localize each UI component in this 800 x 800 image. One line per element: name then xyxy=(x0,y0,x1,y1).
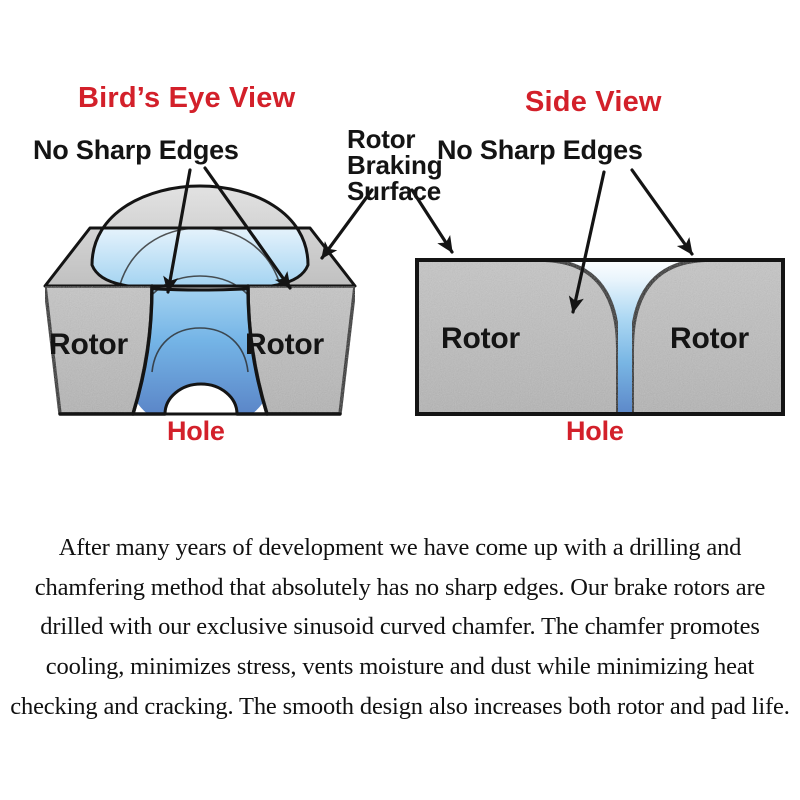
birds-eye-rotor-right-label: Rotor xyxy=(245,330,324,361)
birds-eye-hole-label: Hole xyxy=(167,418,225,446)
birds-eye-view-drawing xyxy=(45,186,355,414)
side-view-title: Side View xyxy=(525,88,662,118)
side-view-no-sharp-edges-label: No Sharp Edges xyxy=(437,137,643,165)
sv-nse-arrow-right xyxy=(632,170,692,254)
birds-eye-rotor-left-label: Rotor xyxy=(49,330,128,361)
side-view-rotor-left-label: Rotor xyxy=(441,324,520,355)
rotor-braking-surface-label: Rotor Braking Surface xyxy=(347,126,442,204)
birds-eye-no-sharp-edges-label: No Sharp Edges xyxy=(33,137,239,165)
description-paragraph: After many years of development we have … xyxy=(10,528,790,726)
diagram-page: Bird’s Eye View Side View No Sharp Edges… xyxy=(0,0,800,800)
side-view-rotor-right-label: Rotor xyxy=(670,324,749,355)
birds-eye-view-title: Bird’s Eye View xyxy=(78,84,295,114)
side-view-hole-label: Hole xyxy=(566,418,624,446)
